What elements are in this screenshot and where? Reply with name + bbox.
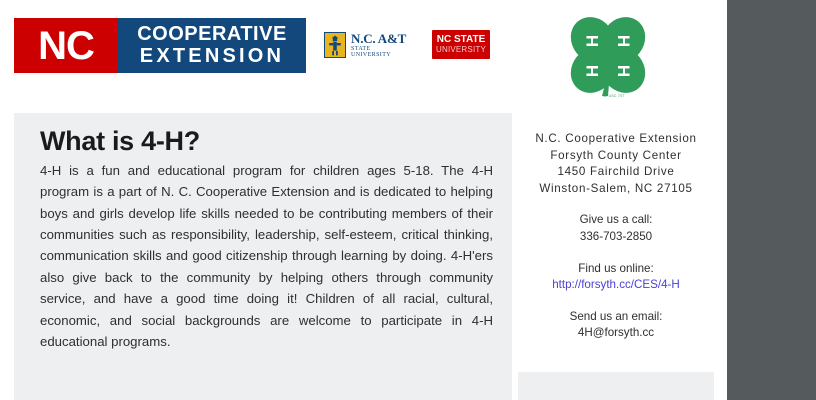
contact-column: N.C. Cooperative Extension Forsyth Count… xyxy=(518,113,714,400)
contact-org-name: N.C. Cooperative Extension xyxy=(518,131,714,148)
article-body-text: 4-H is a fun and educational program for… xyxy=(30,160,496,353)
nc-at-name: N.C. A&T xyxy=(351,32,410,46)
page-title: What is 4-H? xyxy=(40,127,496,157)
email-label: Send us an email: xyxy=(518,309,714,326)
nc-state-university-logo: NC STATE UNIVERSITY xyxy=(432,30,490,59)
nc-at-state-university-logo: N.C. A&T STATE UNIVERSITY xyxy=(324,29,410,61)
svg-text:H: H xyxy=(583,65,602,77)
bottom-placeholder-block xyxy=(518,372,714,400)
extension-wordmark-line2: EXTENSION xyxy=(140,46,284,68)
contact-address-block: N.C. Cooperative Extension Forsyth Count… xyxy=(518,131,714,197)
four-h-legal-tagline: 18 USC 707 xyxy=(603,94,624,98)
contact-street: 1450 Fairchild Drive xyxy=(518,164,714,181)
contact-email-block: Send us an email: 4H@forsyth.cc xyxy=(518,309,714,342)
nc-state-name: NC STATE xyxy=(437,34,486,45)
spacer xyxy=(518,294,714,309)
extension-wordmark-line1: COOPERATIVE xyxy=(137,24,287,46)
call-label: Give us a call: xyxy=(518,212,714,229)
svg-text:H: H xyxy=(614,35,633,47)
nc-cooperative-extension-logo: NC COOPERATIVE EXTENSION xyxy=(14,18,306,73)
contact-city-state-zip: Winston-Salem, NC 27105 xyxy=(518,181,714,198)
online-label: Find us online: xyxy=(518,261,714,278)
website-link[interactable]: http://forsyth.cc/CES/4-H xyxy=(552,278,680,291)
contact-phone-block: Give us a call: 336-703-2850 xyxy=(518,212,714,245)
contact-center-name: Forsyth County Center xyxy=(518,148,714,165)
nc-at-subtitle: STATE UNIVERSITY xyxy=(351,46,410,59)
header-logo-bar: NC COOPERATIVE EXTENSION xyxy=(0,0,727,113)
svg-text:H: H xyxy=(583,35,602,47)
extension-wordmark: COOPERATIVE EXTENSION xyxy=(118,18,306,73)
nc-monogram: NC xyxy=(14,18,118,73)
aggie-bull-icon xyxy=(324,32,346,58)
svg-text:H: H xyxy=(614,65,633,77)
nc-state-subtitle: UNIVERSITY xyxy=(436,45,486,54)
four-h-clover-logo: H H H H 18 USC 707 xyxy=(565,14,651,106)
document-page: NC COOPERATIVE EXTENSION xyxy=(0,0,727,400)
what-is-4h-panel: What is 4-H? 4-H is a fun and educationa… xyxy=(14,113,512,400)
nc-monogram-text: NC xyxy=(38,26,94,66)
email-address[interactable]: 4H@forsyth.cc xyxy=(518,325,714,342)
contact-website-block: Find us online: http://forsyth.cc/CES/4-… xyxy=(518,261,714,294)
viewer-background-gutter xyxy=(727,0,816,400)
phone-number[interactable]: 336-703-2850 xyxy=(518,229,714,246)
spacer xyxy=(518,197,714,212)
nc-at-wordmark: N.C. A&T STATE UNIVERSITY xyxy=(351,32,410,58)
spacer xyxy=(518,246,714,261)
